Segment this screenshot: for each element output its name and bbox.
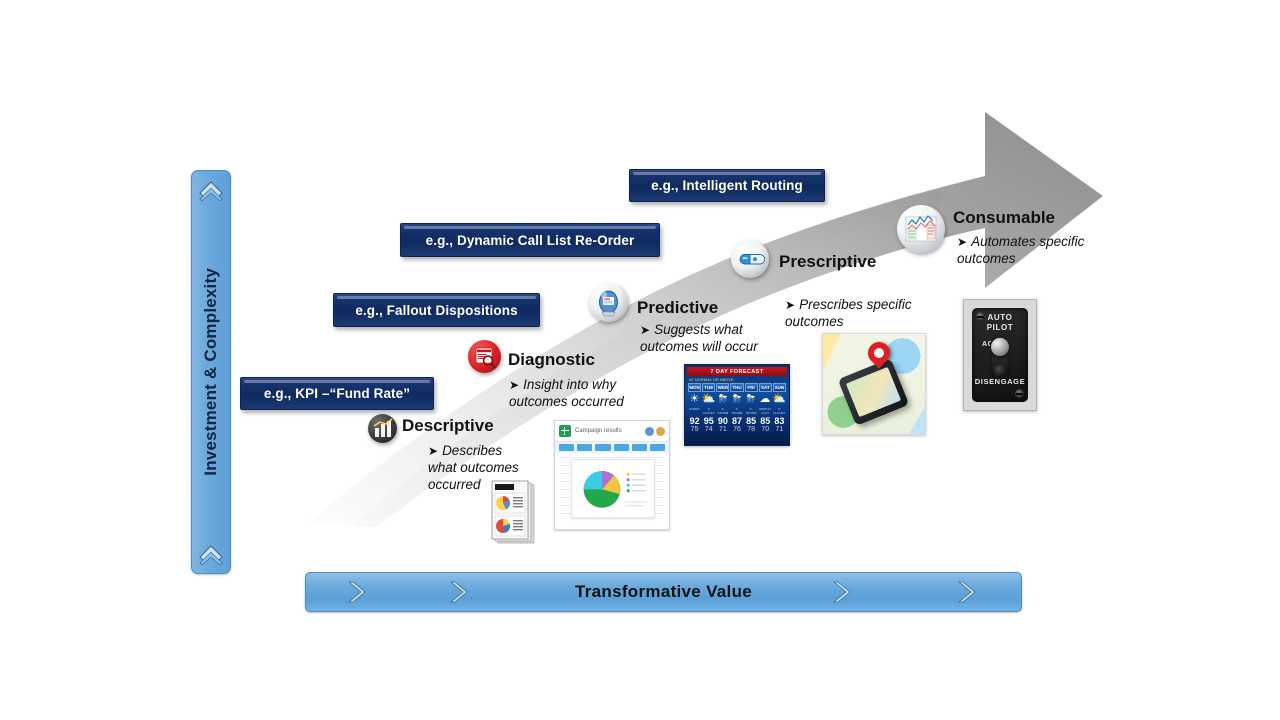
autopilot-switch-image: AUTO PILOT AGE DISENGAGE [963,299,1037,411]
forecast-header: 7 DAY FORECAST [687,367,787,376]
bullet-icon: ➤ [640,323,650,338]
weather-low: 71 [773,426,786,433]
phone-map-screen [846,367,902,417]
weather-low: 74 [702,426,715,433]
stage-desc-prescriptive: ➤Prescribes specific outcomes [785,297,917,331]
stage-desc-text: Suggests what outcomes will occur [640,322,758,354]
forecast-day: TUE [702,383,715,392]
dashboard-body [555,453,669,530]
stage-desc-consumable: ➤Automates specific outcomes [957,234,1097,268]
forecast-day: SAT [759,383,772,392]
forecast-day: WED [716,383,729,392]
dashboard-title: Campaign results [575,428,622,434]
bullet-icon: ➤ [785,298,795,313]
autopilot-toggle[interactable] [990,336,1010,380]
stage-title-predictive: Predictive [637,298,718,318]
weather-icon: ⛈ [731,394,744,405]
autopilot-label-line1: AUTO [972,314,1028,323]
weather-icon: ⛅ [772,394,786,405]
weather-icon: ☀ [688,394,701,405]
weather-low: 76 [730,426,743,433]
weather-condition: T-STORM [745,407,758,415]
toolbar-item [614,444,629,451]
stock-ticker-icon [897,205,945,253]
chevron-right-icon [954,579,978,605]
forecast-day: THU [730,383,743,392]
weather-condition: SUNNY [688,407,701,415]
avatar [645,427,654,436]
document-magnifier-icon [468,340,501,373]
screw-icon [1015,389,1024,398]
weather-condition: T-STORM [716,407,729,415]
forecast-condition-row: SUNNY P CLOUDY T-STORM T-STORM T-STORM M… [687,407,787,415]
weather-low: 70 [759,426,772,433]
dashboard-titlebar: Campaign results [555,421,669,442]
weather-icon: ⛈ [744,394,757,405]
chip-label: e.g., Intelligent Routing [651,178,803,193]
campaign-results-dashboard-image: Campaign results [554,420,670,530]
toggle-socket [994,365,1006,377]
chip-kpi-fund-rate[interactable]: e.g., KPI –“Fund Rate” [240,377,434,410]
forecast-low-row: 75 74 71 76 78 70 71 [687,426,787,433]
weather-condition: P CLOUDY [773,407,786,415]
stage-title-prescriptive: Prescriptive [779,252,876,272]
smartphone-graphic [838,358,910,426]
transformative-value-label: Transformative Value [306,573,1021,611]
stage-desc-text: Prescribes specific outcomes [785,297,912,329]
weather-condition: P CLOUDY [702,407,715,415]
weather-high: 83 [773,416,786,426]
toolbar-item [595,444,610,451]
weather-icon: ☁ [758,394,771,405]
autopilot-disengage-label: DISENGAGE [972,378,1028,386]
chevron-right-icon [829,579,853,605]
reports-stack-image [484,478,546,548]
forecast-icon-row: ☀ ⛅ ⛈ ⛈ ⛈ ☁ ⛅ [687,392,787,407]
chevron-up-icon [196,177,226,203]
stage-desc-predictive: ➤Suggests what outcomes will occur [640,322,800,356]
avatar [656,427,665,436]
avatar-group [645,427,665,436]
autopilot-label-line2: PILOT [972,324,1028,333]
pie-chart-icon [572,460,654,517]
autopilot-plate: AUTO PILOT AGE DISENGAGE [972,308,1028,402]
investment-complexity-axis: Investment & Complexity [191,170,231,574]
pie-chart-card [571,459,655,518]
weather-high: 92 [688,416,701,426]
weather-condition: T-STORM [730,407,743,415]
toolbar-item [632,444,647,451]
chip-label: e.g., Fallout Dispositions [355,303,517,318]
seven-day-forecast-image: 7 DAY FORECAST AT NORMAL OR ABOVE MON TU… [684,364,790,446]
forecast-subheader: AT NORMAL OR ABOVE [687,376,787,383]
slide-canvas: Investment & Complexity e.g., KPI –“Fund… [0,0,1280,720]
crystal-ball-icon [589,283,628,322]
toolbar-item [559,444,574,451]
stage-title-diagnostic: Diagnostic [508,350,595,370]
gps-phone-map-image [822,333,926,435]
stage-desc-text: Insight into why outcomes occurred [509,377,624,409]
chip-dynamic-call-list[interactable]: e.g., Dynamic Call List Re-Order [400,223,660,257]
bullet-icon: ➤ [509,378,519,393]
stage-title-descriptive: Descriptive [402,416,494,436]
forecast-day-row: MON TUE WED THU FRI SAT SUN [687,383,787,392]
forecast-day: SUN [773,383,786,392]
weather-icon: ⛈ [717,394,730,405]
weather-condition: MOSTLY CLDY [759,407,772,415]
weather-high: 95 [702,416,715,426]
chip-label: e.g., KPI –“Fund Rate” [264,386,410,401]
weather-high: 85 [745,416,758,426]
toolbar-item [577,444,592,451]
weather-high: 90 [716,416,729,426]
toggle-knob[interactable] [991,338,1009,356]
weather-high: 87 [730,416,743,426]
stage-desc-diagnostic: ➤Insight into why outcomes occurred [509,377,659,411]
chip-intelligent-routing[interactable]: e.g., Intelligent Routing [629,169,825,202]
chip-fallout-dispositions[interactable]: e.g., Fallout Dispositions [333,293,540,327]
chevron-up-icon-2 [196,541,226,567]
weather-low: 71 [716,426,729,433]
axis-label-text: Investment & Complexity [201,268,221,476]
weather-low: 75 [688,426,701,433]
weather-low: 78 [745,426,758,433]
dashboard-toolbar [555,442,669,453]
forecast-high-row: 92 95 90 87 85 85 83 [687,415,787,426]
chip-label: e.g., Dynamic Call List Re-Order [426,233,635,248]
weather-high: 85 [759,416,772,426]
transformative-value-bar: Transformative Value [305,572,1022,612]
bullet-icon: ➤ [428,444,438,459]
bar-chart-icon [368,414,397,443]
sheets-icon [559,425,571,437]
stage-title-consumable: Consumable [953,208,1055,228]
forecast-day: FRI [745,383,758,392]
weather-icon: ⛅ [702,394,716,405]
bullet-icon: ➤ [957,235,967,250]
forecast-day: MON [688,383,701,392]
stage-desc-text: Automates specific outcomes [957,234,1084,266]
pill-capsule-icon [731,240,769,278]
toolbar-item [650,444,665,451]
